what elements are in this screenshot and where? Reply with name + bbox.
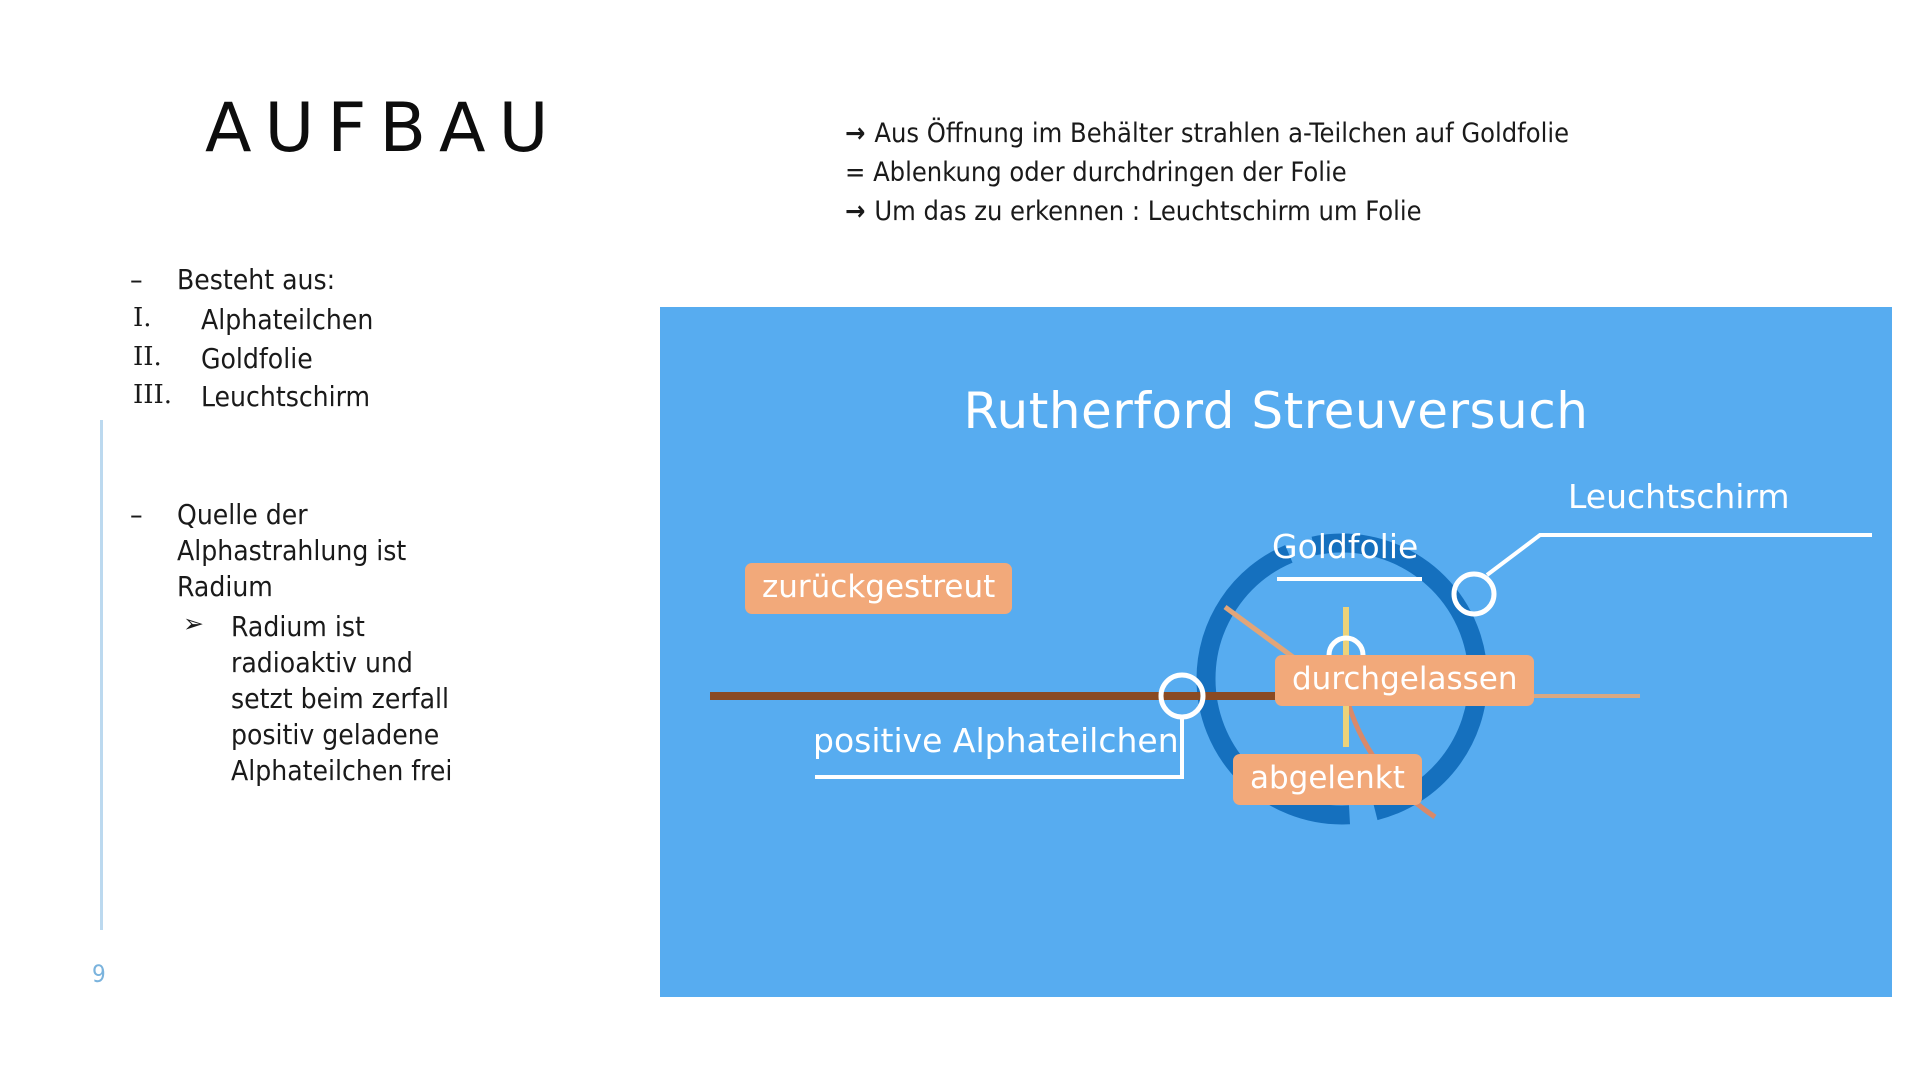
list-item-label: Alphateilchen: [201, 303, 373, 336]
goldfolie-label: Goldfolie: [1272, 527, 1418, 566]
list-item: II. Goldfolie: [125, 341, 555, 377]
dash-bullet-icon: –: [130, 262, 143, 298]
body-content: – Besteht aus: I. Alphateilchen II. Gold…: [125, 262, 555, 789]
left-accent-rule: [100, 420, 103, 930]
bullet-quelle-line-1: Quelle der: [177, 498, 308, 531]
list-item-label: Goldfolie: [201, 342, 313, 375]
leuchtschirm-leader-line: [1487, 535, 1872, 575]
arrow-icon: →: [845, 193, 865, 232]
slide-canvas: AUFBAU →Aus Öffnung im Behälter strahlen…: [0, 0, 1920, 1080]
list-item: III. Leuchtschirm: [125, 379, 555, 415]
headnote-text-3: Um das zu erkennen : Leuchtschirm um Fol…: [874, 196, 1421, 227]
badge-durchgelassen: durchgelassen: [1275, 655, 1534, 706]
sub-list-text: Radium ist radioaktiv und setzt beim zer…: [231, 609, 555, 790]
headnote-line-1: →Aus Öffnung im Behälter strahlen a-Teil…: [845, 115, 1725, 154]
headnote-line-2: = Ablenkung oder durchdringen der Folie: [845, 154, 1725, 193]
sub-line-4: positiv geladene: [231, 717, 555, 753]
bullet-quelle-line-3: Radium: [177, 570, 273, 603]
sub-line-2: radioaktiv und: [231, 645, 555, 681]
bullet-besteht-aus-label: Besteht aus:: [177, 263, 335, 296]
bullet-quelle: – Quelle der Alphastrahlung ist Radium: [125, 497, 555, 604]
roman-numeral: I.: [133, 302, 152, 335]
bullet-quelle-line-2: Alphastrahlung ist: [177, 534, 406, 567]
roman-list: I. Alphateilchen II. Goldfolie III. Leuc…: [125, 302, 555, 415]
headnote-line-3: →Um das zu erkennen : Leuchtschirm um Fo…: [845, 193, 1725, 232]
bullet-besteht-aus: – Besteht aus:: [125, 262, 555, 298]
arrowhead-bullet-icon: ➢: [183, 608, 204, 640]
diagram-vector-layer: [660, 307, 1892, 997]
dash-bullet-icon: –: [130, 497, 143, 533]
bullet-group-quelle: – Quelle der Alphastrahlung ist Radium ➢…: [125, 497, 555, 789]
sub-line-5: Alphateilchen frei: [231, 753, 555, 789]
roman-numeral: III.: [133, 379, 172, 412]
headnote-block: →Aus Öffnung im Behälter strahlen a-Teil…: [845, 115, 1725, 232]
list-item-label: Leuchtschirm: [201, 380, 370, 413]
arrow-icon: →: [845, 115, 865, 154]
headnote-text-2: = Ablenkung oder durchdringen der Folie: [845, 157, 1347, 188]
rutherford-diagram-image: Rutherford Streuversuch Goldfo: [660, 307, 1892, 997]
roman-numeral: II.: [133, 341, 162, 374]
alphateilchen-label: positive Alphateilchen: [813, 721, 1179, 760]
list-item: I. Alphateilchen: [125, 302, 555, 338]
badge-zurueckgestreut: zurückgestreut: [745, 563, 1012, 614]
badge-abgelenkt: abgelenkt: [1233, 754, 1422, 805]
sub-line-1: Radium ist: [231, 609, 555, 645]
sub-line-3: setzt beim zerfall: [231, 681, 555, 717]
sub-list: ➢ Radium ist radioaktiv und setzt beim z…: [125, 609, 555, 790]
page-number: 9: [92, 960, 106, 988]
leuchtschirm-label: Leuchtschirm: [1568, 477, 1790, 516]
headnote-text-1: Aus Öffnung im Behälter strahlen a-Teilc…: [874, 118, 1569, 149]
list-item: ➢ Radium ist radioaktiv und setzt beim z…: [125, 609, 555, 790]
page-title: AUFBAU: [205, 95, 561, 163]
